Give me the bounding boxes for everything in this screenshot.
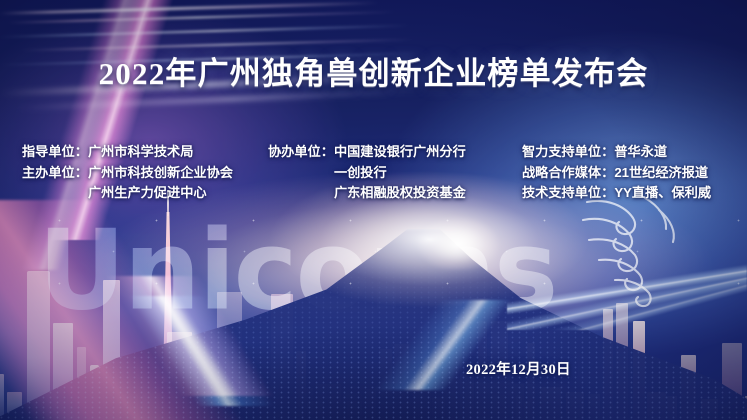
credit-value: 广州市科学技术局 [88,142,194,163]
credit-label: 协办单位： [268,142,334,163]
credits-column-guidance-host: 指导单位：广州市科学技术局主办单位：广州市科技创新企业协会主办单位：广州生产力促… [0,142,268,204]
credit-line: 战略合作媒体：21世纪经济报道 [522,163,747,184]
credit-label: 指导单位： [22,142,88,163]
poster-title: 2022年广州独角兽创新企业榜单发布会 [0,48,747,93]
credit-line: 技术支持单位：YY直播、保利威 [522,183,747,204]
credit-line: 主办单位：广州生产力促进中心 [22,183,268,204]
credit-line: 指导单位：广州市科学技术局 [22,142,268,163]
credit-line: 协办单位：一创投行 [268,163,522,184]
credit-label: 技术支持单位： [522,183,614,204]
credit-value: 中国建设银行广州分行 [334,142,466,163]
credit-value: 普华永道 [614,142,667,163]
credit-label: 智力支持单位： [522,142,614,163]
credit-value: 21世纪经济报道 [614,163,708,184]
credit-label: 战略合作媒体： [522,163,614,184]
credit-line: 智力支持单位：普华永道 [522,142,747,163]
event-poster: Unicorns Unicorns [0,0,747,420]
credit-value: 广州市科技创新企业协会 [88,163,233,184]
event-date: 2022年12月30日 [466,358,571,379]
credit-value: 广东相融股权投资基金 [334,183,466,204]
credit-line: 主办单位：广州市科技创新企业协会 [22,163,268,184]
credits-column-co-organizers: 协办单位：中国建设银行广州分行协办单位：一创投行协办单位：广东相融股权投资基金 [268,142,522,204]
credit-label: 主办单位： [22,163,88,184]
credits-block: 指导单位：广州市科学技术局主办单位：广州市科技创新企业协会主办单位：广州生产力促… [0,142,747,204]
credit-value: YY直播、保利威 [614,183,711,204]
credit-value: 广州生产力促进中心 [88,183,207,204]
credit-line: 协办单位：中国建设银行广州分行 [268,142,522,163]
diagonal-pink-band [0,200,370,420]
credit-line: 协办单位：广东相融股权投资基金 [268,183,522,204]
credits-column-support-media: 智力支持单位：普华永道战略合作媒体：21世纪经济报道技术支持单位：YY直播、保利… [522,142,747,204]
cloud-swirl-ornament [581,196,699,308]
credit-value: 一创投行 [334,163,387,184]
